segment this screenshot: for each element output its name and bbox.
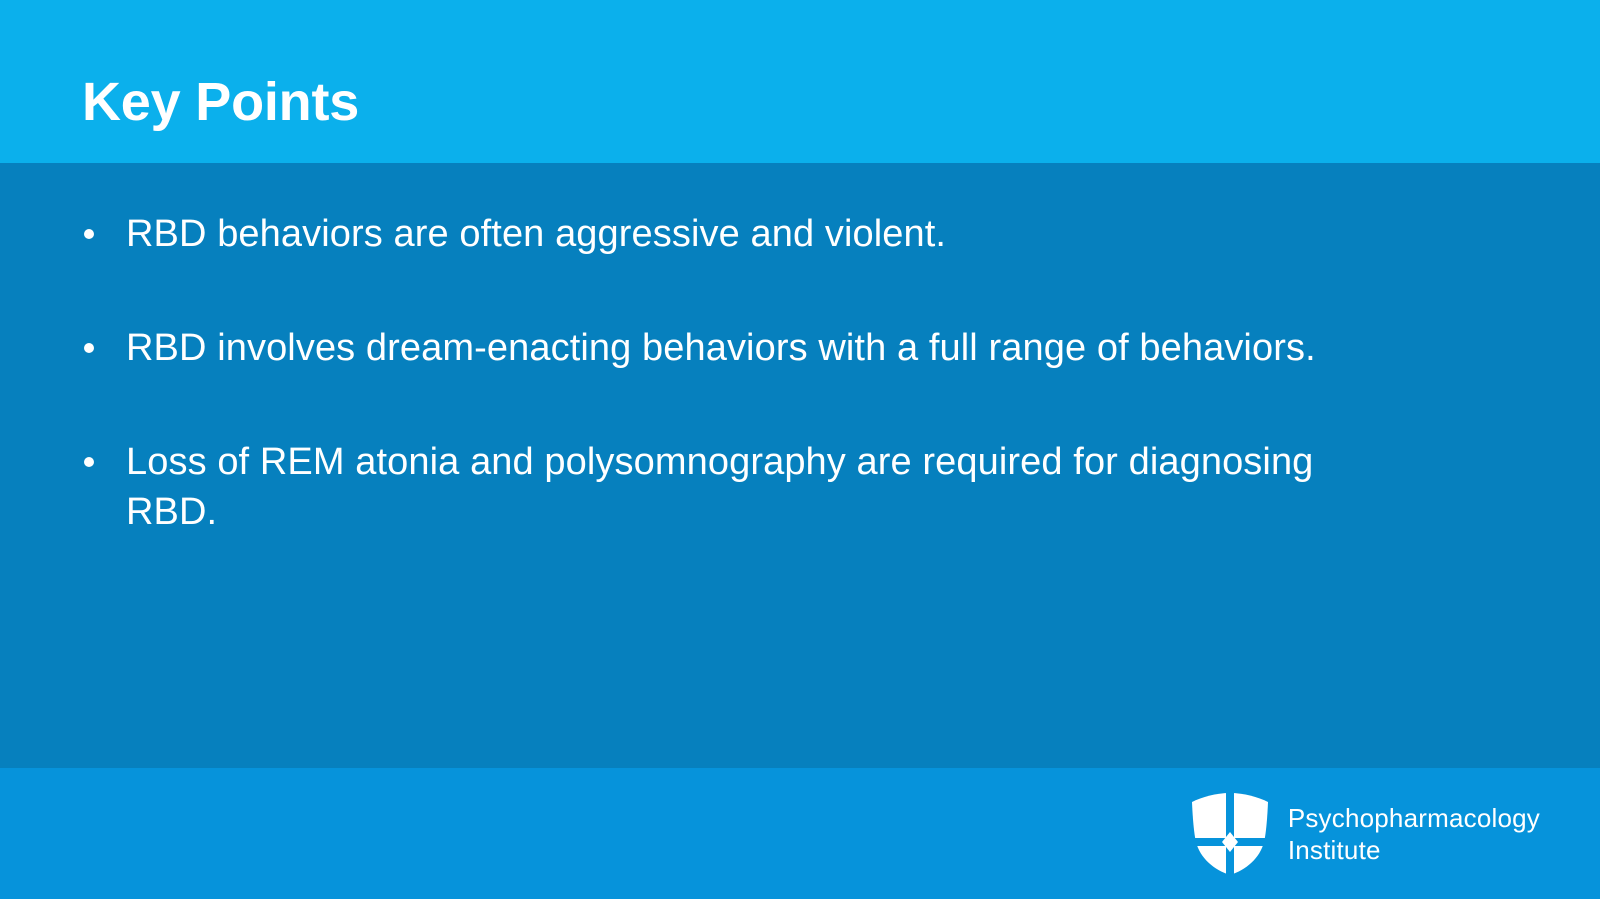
list-item: RBD behaviors are often aggressive and v…: [80, 209, 1370, 259]
list-item: Loss of REM atonia and polysomnography a…: [80, 437, 1370, 537]
slide-body: RBD behaviors are often aggressive and v…: [0, 163, 1600, 768]
brand-logo: Psychopharmacology Institute: [1190, 768, 1540, 899]
list-item: RBD involves dream-enacting behaviors wi…: [80, 323, 1370, 373]
slide-footer: Psychopharmacology Institute: [0, 768, 1600, 899]
list-item-text: RBD behaviors are often aggressive and v…: [126, 209, 1370, 259]
brand-name: Psychopharmacology Institute: [1288, 802, 1540, 866]
slide: Key Points RBD behaviors are often aggre…: [0, 0, 1600, 899]
brand-name-line-1: Psychopharmacology: [1288, 802, 1540, 834]
bullet-dot-icon: [84, 457, 94, 467]
bullet-dot-icon: [84, 343, 94, 353]
shield-logo-icon: [1190, 792, 1270, 876]
list-item-text: Loss of REM atonia and polysomnography a…: [126, 437, 1370, 537]
bullet-dot-icon: [84, 229, 94, 239]
list-item-text: RBD involves dream-enacting behaviors wi…: [126, 323, 1370, 373]
key-points-list: RBD behaviors are often aggressive and v…: [80, 209, 1370, 537]
brand-name-line-2: Institute: [1288, 834, 1540, 866]
page-title: Key Points: [82, 70, 359, 134]
slide-header: Key Points: [0, 0, 1600, 163]
